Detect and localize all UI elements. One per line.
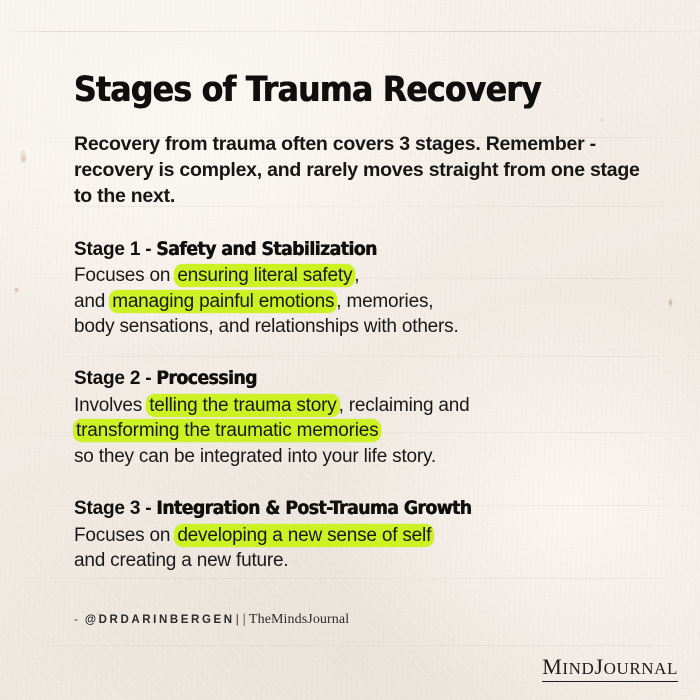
highlight-managing-painful-emotions: managing painful emotions: [109, 291, 337, 312]
stage-1-heading: Stage 1 - Safety and Stabilization: [74, 237, 662, 263]
highlight-telling-the-trauma-story: telling the trauma story: [146, 395, 339, 416]
stage-1-line-1-pre: Focuses on: [74, 265, 175, 286]
card-content: Stages of Trauma Recovery Recovery from …: [0, 0, 700, 628]
paper-crease-line: [0, 645, 700, 646]
stage-1-name: Safety and Stabilization: [156, 238, 376, 260]
stage-2-line-1-pre: Involves: [74, 395, 147, 416]
stage-2-heading: Stage 2 - Processing: [74, 366, 662, 392]
mindjournal-logo: MINDJOURNAL: [542, 656, 678, 683]
attribution: -@DRDARINBERGEN|| TheMindsJournal: [74, 612, 662, 628]
logo-ournal: OURNAL: [604, 659, 678, 678]
stage-2-line-2: transforming the traumatic memories: [74, 418, 662, 443]
stage-2-name: Processing: [156, 367, 257, 389]
quote-card: Stages of Trauma Recovery Recovery from …: [0, 0, 700, 700]
stage-2-line-1-post: , reclaiming and: [339, 395, 470, 416]
stage-1-line-2-pre: and: [74, 291, 110, 312]
stage-2-line-1: Involves telling the trauma story, recla…: [74, 393, 662, 418]
highlight-transforming-the-traumatic-memories: transforming the traumatic memories: [73, 420, 381, 441]
stage-3-body: Focuses on developing a new sense of sel…: [74, 523, 662, 574]
stage-2-body: Involves telling the trauma story, recla…: [74, 393, 662, 469]
stage-3-heading: Stage 3 - Integration & Post-Trauma Grow…: [74, 496, 662, 522]
stage-1-label: Stage 1 -: [74, 239, 156, 260]
attribution-handle: @DRDARINBERGEN: [85, 614, 235, 626]
stage-2-label: Stage 2 -: [74, 368, 156, 389]
stage-3-label: Stage 3 -: [74, 498, 156, 519]
stage-2-line-3: so they can be integrated into your life…: [74, 444, 662, 469]
intro-paragraph: Recovery from trauma often covers 3 stag…: [74, 132, 662, 209]
intro-line-1: Recovery from trauma often covers 3 stag…: [74, 133, 481, 155]
stage-3-line-3: and creating a new future.: [74, 548, 662, 573]
stage-block-3: Stage 3 - Integration & Post-Trauma Grow…: [74, 496, 662, 573]
logo-ind: IND: [562, 659, 594, 678]
stage-3-name: Integration & Post-Trauma Growth: [156, 497, 471, 519]
stage-3-line-1: Focuses on developing a new sense of sel…: [74, 523, 662, 548]
stage-3-line-1-pre: Focuses on: [74, 525, 175, 546]
attribution-separator: |: [236, 614, 240, 626]
logo-underline: [542, 681, 678, 683]
stage-1-line-2: and managing painful emotions, memories,: [74, 289, 662, 314]
stage-1-line-2-post: , memories,: [336, 291, 433, 312]
attribution-dash: -: [74, 614, 78, 626]
stage-1-line-3: body sensations, and relationships with …: [74, 314, 662, 339]
highlight-ensuring-literal-safety: ensuring literal safety: [174, 265, 355, 286]
logo-wordmark: MINDJOURNAL: [542, 656, 678, 678]
logo-m: M: [542, 654, 562, 679]
highlight-developing-a-new-sense-of-self: developing a new sense of self: [174, 525, 434, 546]
stage-block-1: Stage 1 - Safety and Stabilization Focus…: [74, 237, 662, 340]
stage-1-line-1: Focuses on ensuring literal safety,: [74, 263, 662, 288]
stage-block-2: Stage 2 - Processing Involves telling th…: [74, 366, 662, 469]
page-title: Stages of Trauma Recovery: [74, 0, 662, 108]
attribution-brand: | TheMindsJournal: [243, 612, 350, 627]
stage-1-body: Focuses on ensuring literal safety, and …: [74, 263, 662, 339]
logo-j: J: [594, 654, 603, 679]
